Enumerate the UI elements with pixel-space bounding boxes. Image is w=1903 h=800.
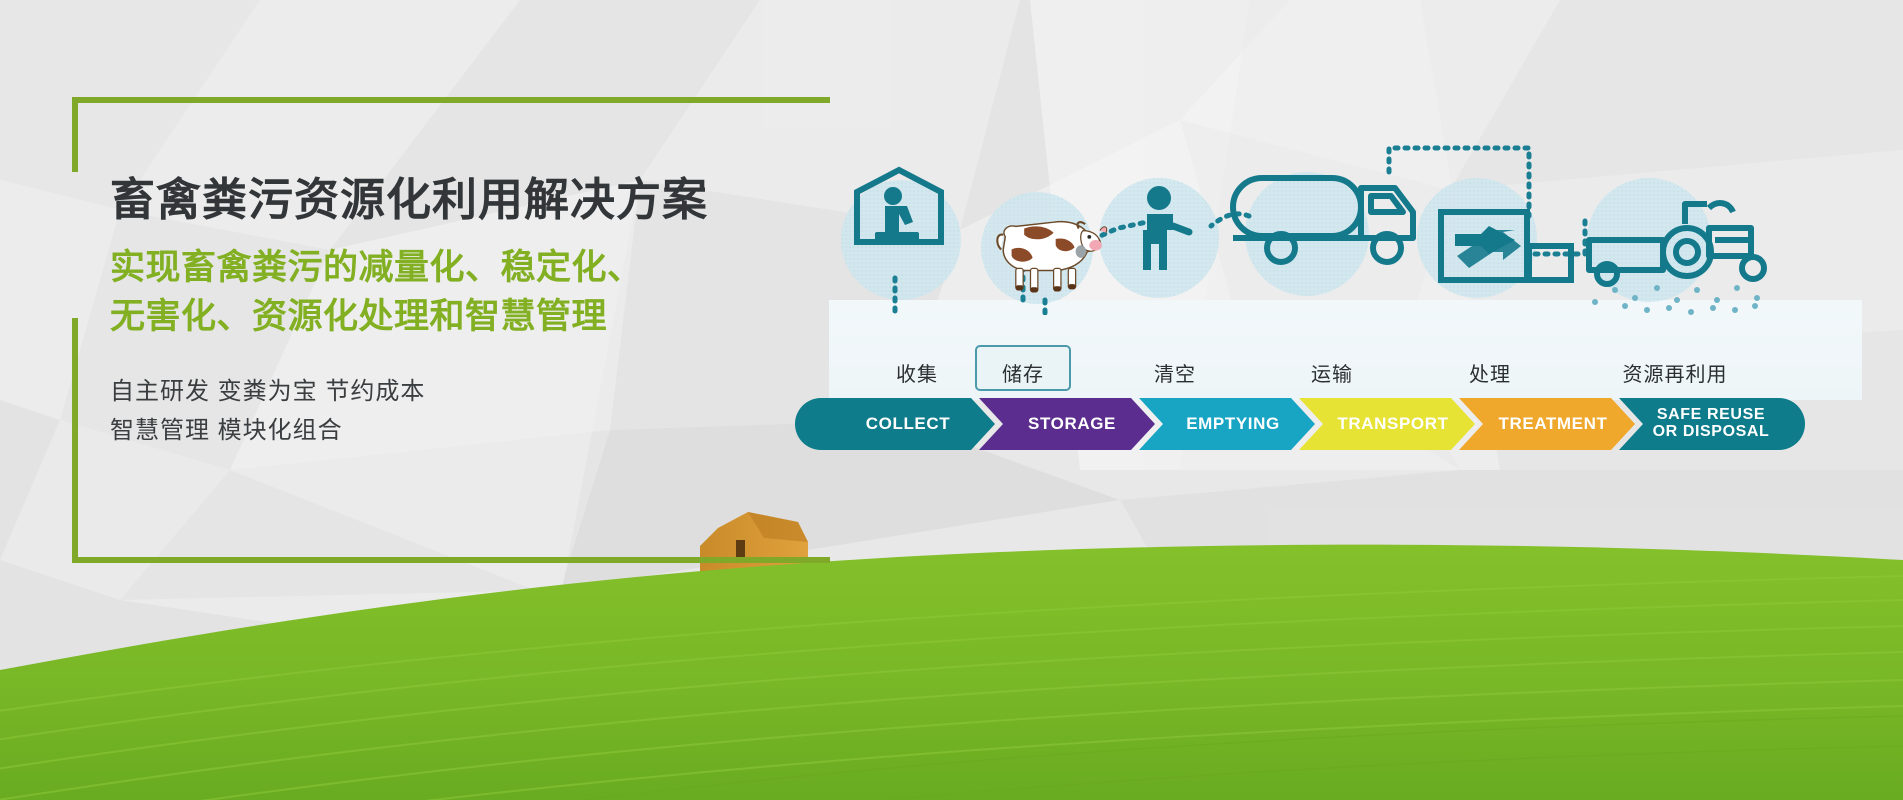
page-title: 畜禽粪污资源化利用解决方案 [110, 172, 810, 228]
frame-border-left-lower [72, 318, 78, 563]
flow-icons-area [829, 130, 1862, 315]
field [0, 545, 1903, 800]
chevron-label-transport[interactable]: TRANSPORT [1307, 398, 1479, 450]
chevron-text-6-line-1: SAFE REUSE [1657, 407, 1765, 424]
chevron-text-6-line-2: OR DISPOSAL [1653, 424, 1770, 441]
frame-border-left-upper [72, 97, 78, 172]
landscape-scene [0, 440, 1903, 800]
chevron-text-3: EMPTYING [1186, 415, 1280, 433]
feature-list: 自主研发 变粪为宝 节约成本 智慧管理 模块化组合 [110, 373, 810, 451]
subtitle-line-1: 实现畜禽粪污的减量化、稳定化、 [110, 244, 810, 292]
page-subtitle: 实现畜禽粪污的减量化、稳定化、 无害化、资源化处理和智慧管理 [110, 244, 810, 341]
step-label-cn-1: 收集 [896, 358, 938, 387]
step-label-cn-6: 资源再利用 [1623, 358, 1728, 387]
flow-icons-svg [829, 130, 1862, 315]
chevron-text-1: COLLECT [866, 415, 950, 433]
subtitle-line-2: 无害化、资源化处理和智慧管理 [110, 293, 810, 341]
frame-border-top [72, 97, 830, 103]
chevron-text-5: TREATMENT [1499, 415, 1608, 433]
chevron-label-emptying[interactable]: EMPTYING [1147, 398, 1319, 450]
step-label-cn-4: 运输 [1311, 358, 1353, 387]
feature-line-1: 自主研发 变粪为宝 节约成本 [110, 373, 810, 412]
step-label-cn-5: 处理 [1469, 358, 1511, 387]
step-label-cn-2: 储存 [1002, 358, 1044, 387]
chevron-text-2: STORAGE [1028, 415, 1116, 433]
chevron-label-treatment[interactable]: TREATMENT [1467, 398, 1639, 450]
chevron-text-4: TRANSPORT [1337, 415, 1448, 433]
frame-border-bottom [72, 557, 830, 563]
banner-stage: 畜禽粪污资源化利用解决方案 实现畜禽粪污的减量化、稳定化、 无害化、资源化处理和… [0, 0, 1903, 800]
chevron-label-collect[interactable]: COLLECT [821, 398, 995, 450]
feature-line-2: 智慧管理 模块化组合 [110, 412, 810, 451]
chevron-label-storage[interactable]: STORAGE [985, 398, 1159, 450]
process-ribbon: COLLECT STORAGE EMPTYING TRANSPORT TREAT… [795, 398, 1805, 450]
chevron-label-safe-reuse[interactable]: SAFE REUSE OR DISPOSAL [1631, 398, 1791, 450]
landscape-svg [0, 440, 1903, 800]
step-label-cn-3: 清空 [1154, 358, 1196, 387]
headline-block: 畜禽粪污资源化利用解决方案 实现畜禽粪污的减量化、稳定化、 无害化、资源化处理和… [110, 172, 810, 451]
